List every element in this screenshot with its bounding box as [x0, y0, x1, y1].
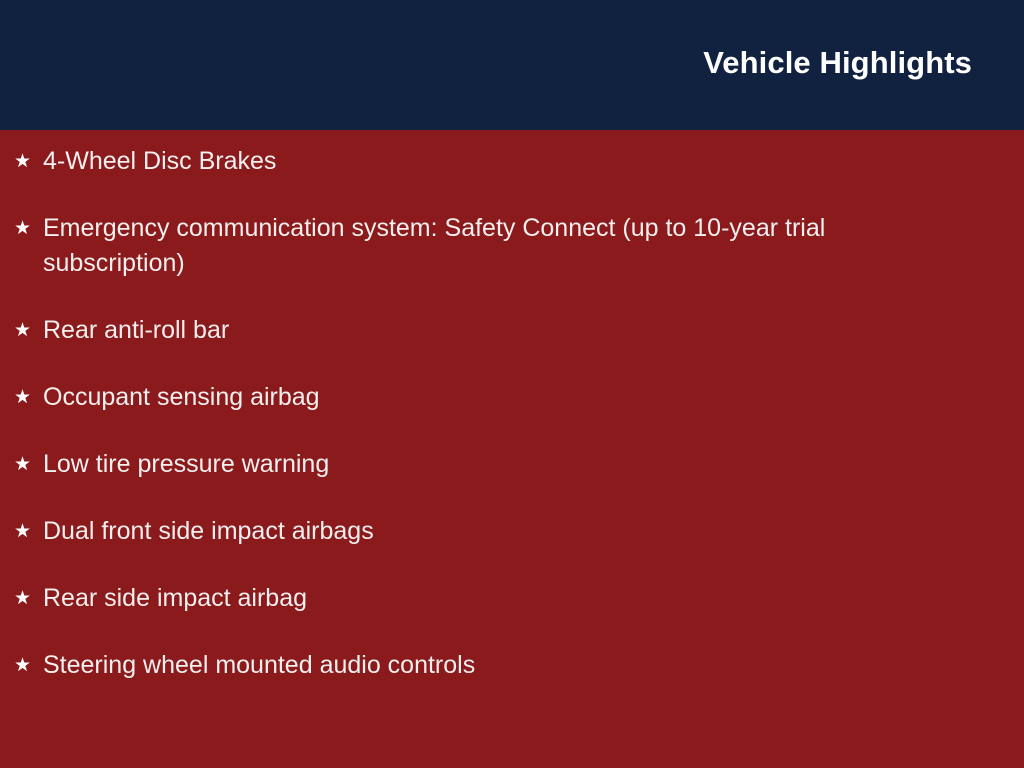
list-item-label: Dual front side impact airbags: [43, 514, 968, 549]
list-item: ★ Rear side impact airbag: [14, 581, 968, 616]
vehicle-highlights-slide: Vehicle Highlights ★ 4-Wheel Disc Brakes…: [0, 0, 1024, 768]
list-item: ★ Emergency communication system: Safety…: [14, 211, 968, 281]
star-bullet-icon: ★: [14, 211, 34, 246]
slide-header-band: Vehicle Highlights: [0, 0, 1024, 130]
star-bullet-icon: ★: [14, 648, 34, 683]
star-bullet-icon: ★: [14, 144, 34, 179]
list-item-label: Steering wheel mounted audio controls: [43, 648, 968, 683]
star-bullet-icon: ★: [14, 380, 34, 415]
list-item-label: Rear side impact airbag: [43, 581, 968, 616]
list-item-label: Rear anti-roll bar: [43, 313, 968, 348]
slide-body: ★ 4-Wheel Disc Brakes ★ Emergency commun…: [0, 130, 1024, 768]
star-bullet-icon: ★: [14, 313, 34, 348]
page-title: Vehicle Highlights: [703, 44, 972, 82]
list-item: ★ Occupant sensing airbag: [14, 380, 968, 415]
list-item-label: 4-Wheel Disc Brakes: [43, 144, 968, 179]
list-item: ★ Low tire pressure warning: [14, 447, 968, 482]
list-item: ★ Steering wheel mounted audio controls: [14, 648, 968, 683]
list-item-label: Emergency communication system: Safety C…: [43, 211, 968, 281]
list-item-label: Occupant sensing airbag: [43, 380, 968, 415]
list-item: ★ Dual front side impact airbags: [14, 514, 968, 549]
star-bullet-icon: ★: [14, 514, 34, 549]
list-item: ★ 4-Wheel Disc Brakes: [14, 144, 968, 179]
vehicle-highlights-list: ★ 4-Wheel Disc Brakes ★ Emergency commun…: [14, 144, 968, 683]
list-item-label: Low tire pressure warning: [43, 447, 968, 482]
star-bullet-icon: ★: [14, 447, 34, 482]
star-bullet-icon: ★: [14, 581, 34, 616]
list-item: ★ Rear anti-roll bar: [14, 313, 968, 348]
